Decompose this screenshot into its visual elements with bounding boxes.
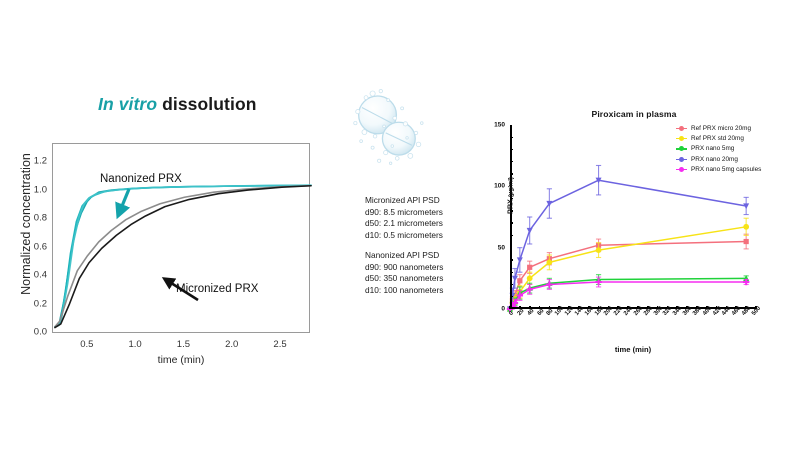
annotation-nanonized-prx: Nanonized PRX <box>100 173 182 185</box>
pk-ylabel-unit: (µg/ml) <box>508 177 515 197</box>
psd-micronized-d10: d10: 0.5 micrometers <box>365 230 443 242</box>
pk-xtick-label-3: 60 <box>536 308 545 317</box>
pk-chart-title: Piroxicam in plasma <box>468 109 800 119</box>
pk-xtick-label-0: 0 <box>508 311 515 317</box>
psd-micronized-block: Micronized API PSD d90: 8.5 micrometers … <box>365 195 443 241</box>
dissolution-x-axis-label: time (min) <box>53 354 309 366</box>
annotation-micronized-prx: Micronized PRX <box>176 283 258 295</box>
pk-ytick-minor <box>510 161 513 162</box>
psd-micronized-d50: d50: 2.1 micrometers <box>365 218 443 230</box>
dissolution-ytick-6: 1.2 <box>34 156 53 167</box>
dissolution-ytick-0: 0.0 <box>34 327 53 338</box>
pk-xtick-label-1: 20 <box>516 308 525 317</box>
in-vitro-dissolution-panel: In vitro dissolution Normalized concentr… <box>0 80 340 370</box>
dissolution-xtick-4: 2.5 <box>273 332 286 350</box>
psd-nanonized-d10: d10: 100 nanometers <box>365 285 443 297</box>
pk-ytick-minor <box>510 259 513 260</box>
dissolution-ytick-3: 0.6 <box>34 241 53 252</box>
dissolution-ytick-4: 0.8 <box>34 213 53 224</box>
psd-nanonized-d50: d50: 350 nanometers <box>365 273 443 285</box>
dissolution-y-axis-label: Normalized concentration <box>19 134 33 314</box>
pk-ytick-minor <box>510 173 513 174</box>
pk-series-curves <box>510 125 756 309</box>
pk-ytick-minor <box>510 198 513 199</box>
pk-ytick-1: 50 <box>498 244 510 251</box>
dissolution-ytick-5: 1.0 <box>34 184 53 195</box>
psd-nanonized-heading: Nanonized API PSD <box>365 250 443 262</box>
dissolution-chart: Normalized concentration 0.0 0.2 0.4 0.6… <box>8 125 318 370</box>
psd-micronized-d90: d90: 8.5 micrometers <box>365 207 443 219</box>
dissolution-xtick-3: 2.0 <box>225 332 238 350</box>
pk-ytick-minor <box>510 222 513 223</box>
dissolution-curves <box>53 144 311 334</box>
psd-nanonized-block: Nanonized API PSD d90: 900 nanometers d5… <box>365 250 443 296</box>
psd-micronized-heading: Micronized API PSD <box>365 195 443 207</box>
psd-nanonized-d90: d90: 900 nanometers <box>365 262 443 274</box>
pk-x-axis-label: time (min) <box>510 345 756 354</box>
pk-xtick-mark-0 <box>509 306 511 309</box>
dissolution-plot-area: 0.0 0.2 0.4 0.6 0.8 1.0 1.2 0.5 1.0 1.5 … <box>52 143 310 333</box>
dissolution-ytick-1: 0.2 <box>34 298 53 309</box>
dissolution-xtick-2: 1.5 <box>177 332 190 350</box>
effervescent-tablets-icon <box>348 87 430 169</box>
psd-info-panel: Micronized API PSD d90: 8.5 micrometers … <box>340 85 475 325</box>
slide-canvas: In vitro dissolution Normalized concentr… <box>0 0 800 450</box>
pk-ytick-minor <box>510 210 513 211</box>
pk-ytick-minor <box>510 137 513 138</box>
pk-ytick-minor <box>510 149 513 150</box>
pk-ytick-minor <box>510 284 513 285</box>
pk-y-axis-label: PRX (µg/ml) <box>506 150 515 242</box>
dissolution-xtick-1: 1.0 <box>129 332 142 350</box>
pk-ytick-minor <box>510 272 513 273</box>
plasma-pk-panel: Piroxicam in plasma Ref PRX micro 20mgRe… <box>468 105 800 370</box>
pk-plot-area: 0 50 100 150 time (min) PRX (µg/ml) 0204… <box>510 125 756 309</box>
pk-series-3 <box>507 165 749 312</box>
pk-ytick-minor <box>510 235 513 236</box>
pk-xtick-label-2: 40 <box>526 308 535 317</box>
dissolution-ytick-2: 0.4 <box>34 270 53 281</box>
pk-ytick-minor <box>510 296 513 297</box>
in-vitro-title: In vitro dissolution <box>98 94 257 115</box>
pk-ytick-3: 150 <box>494 122 510 129</box>
pk-series-1 <box>507 218 749 312</box>
in-vitro-title-italic: In vitro <box>98 94 157 114</box>
dissolution-xtick-0: 0.5 <box>80 332 93 350</box>
in-vitro-title-rest: dissolution <box>157 94 256 114</box>
